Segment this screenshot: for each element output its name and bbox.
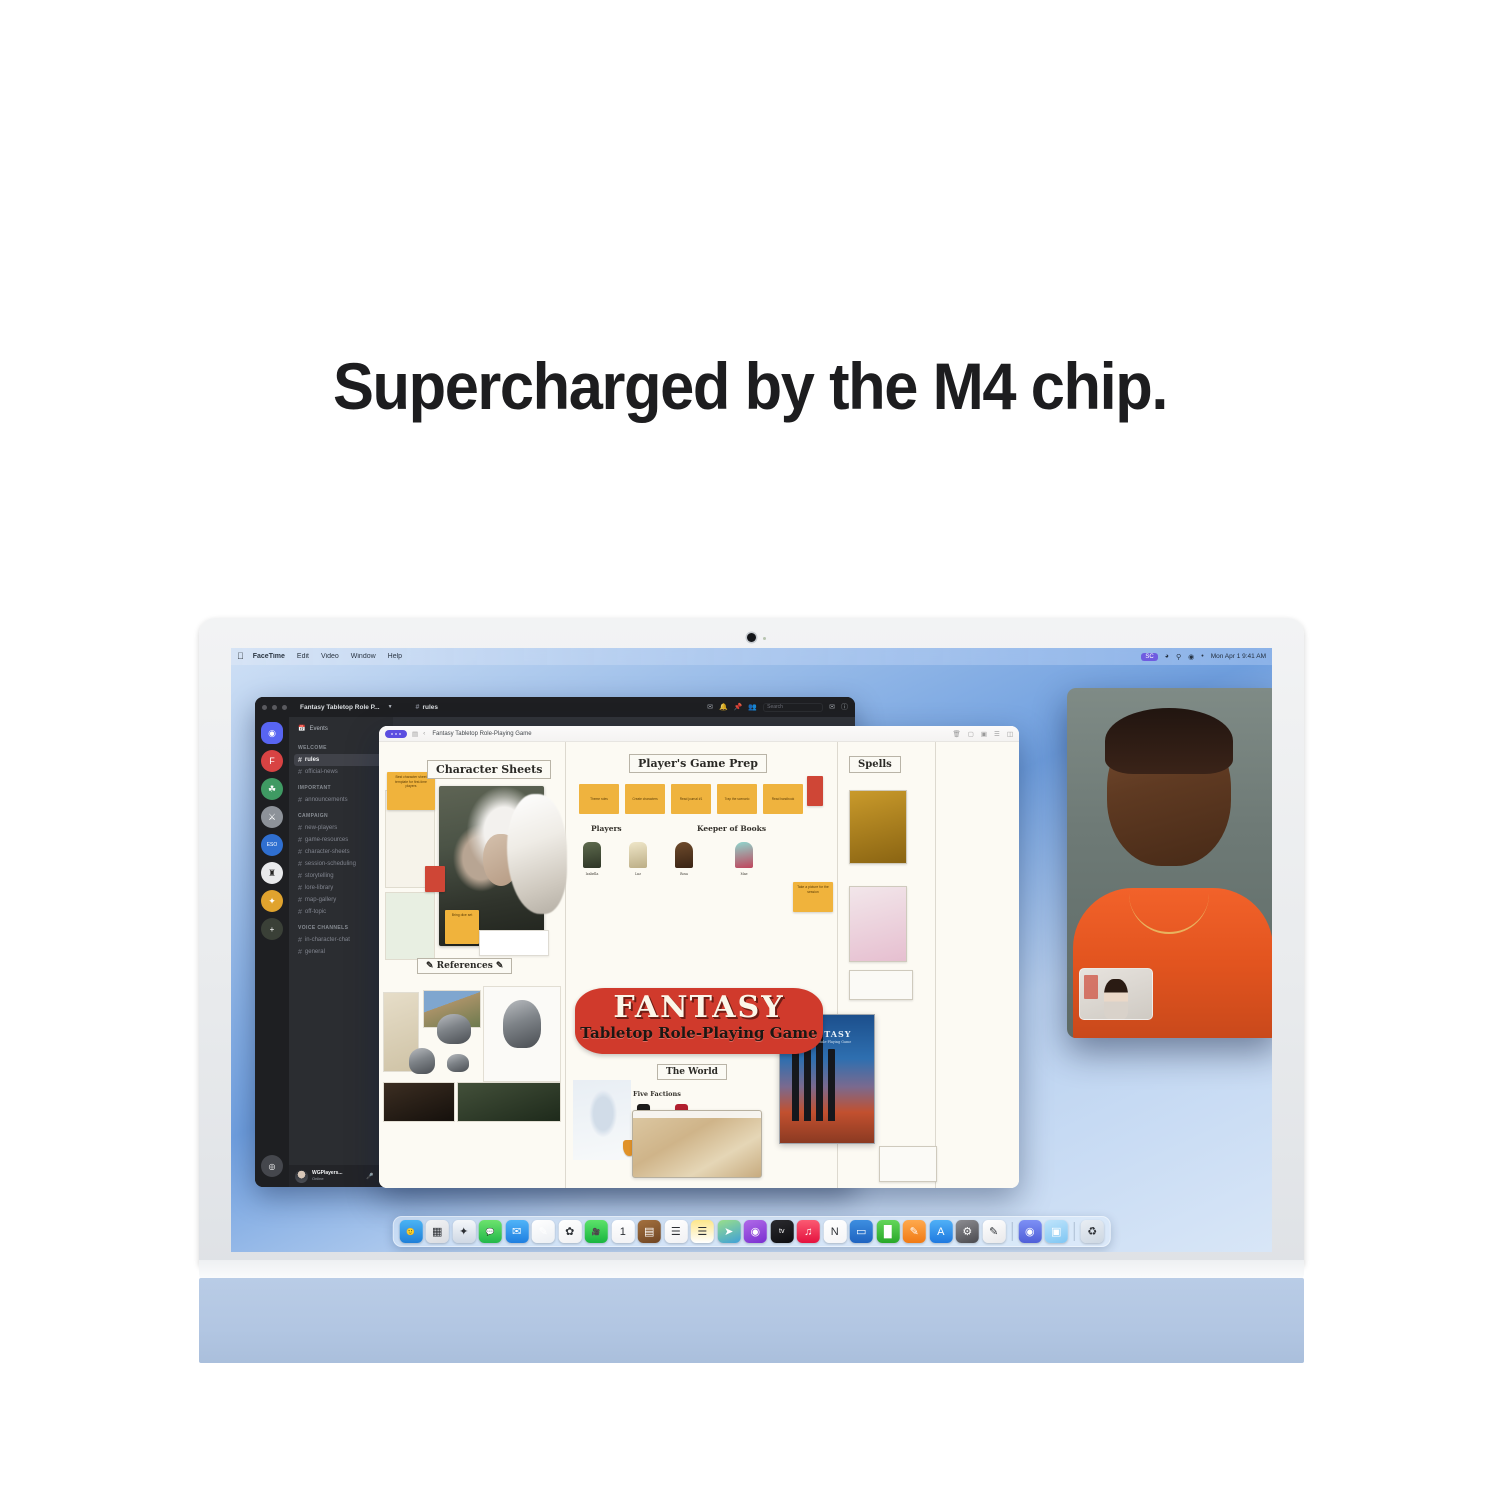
- imac-stand: [199, 1278, 1304, 1363]
- siri-icon[interactable]: •: [1201, 653, 1203, 660]
- pixelmator-icon: ✎: [989, 1225, 998, 1238]
- dock-icon-contacts[interactable]: ▤: [638, 1220, 661, 1243]
- mic-icon[interactable]: 🎤: [366, 1173, 373, 1180]
- discord-toolbar: ✉ 🔔 📌 👥 Search ✉ ⓘ: [707, 702, 848, 712]
- discord-channel-list: WELCOME#rules#official-newsIMPORTANT#ann…: [289, 738, 393, 1165]
- prep-tile[interactable]: Trap the scenario: [717, 784, 757, 814]
- pin-icon[interactable]: 📌: [734, 703, 743, 711]
- discord-icon: ◉: [1025, 1225, 1035, 1238]
- helmet-sketch-icon: [409, 1048, 435, 1074]
- guild-green-server[interactable]: ☘: [261, 778, 283, 800]
- prep-tile[interactable]: Read handbook: [763, 784, 803, 814]
- sidebar-toggle-icon[interactable]: ▤: [412, 730, 418, 738]
- board-section-the-world: The World: [657, 1064, 727, 1080]
- dock-icon-safari[interactable]: ✦: [452, 1220, 475, 1243]
- hash-icon: #: [298, 897, 302, 904]
- channel-item-session-scheduling[interactable]: #session-scheduling: [294, 858, 388, 870]
- player-mini-figure[interactable]: [583, 842, 601, 868]
- channel-item-off-topic[interactable]: #off-topic: [294, 906, 388, 918]
- prep-tile[interactable]: Create characters: [625, 784, 665, 814]
- hash-icon: #: [298, 757, 302, 764]
- helmet-sketch-icon: [437, 1014, 471, 1044]
- apple-logo-icon[interactable]: : [237, 652, 244, 661]
- search-icon[interactable]: ⚲: [1176, 653, 1181, 661]
- freeform-canvas[interactable]: Character Sheets Best character sheet te…: [379, 742, 1019, 1188]
- channel-item-official-news[interactable]: #official-news: [294, 766, 388, 778]
- channel-item-in-character-chat[interactable]: #in-character-chat: [294, 934, 388, 946]
- discord-channel-title: #rules: [416, 704, 438, 711]
- menu-item-app[interactable]: FaceTime: [253, 653, 285, 660]
- spell-card[interactable]: [849, 886, 907, 962]
- hash-icon: #: [298, 797, 302, 804]
- board-section-character-sheets: Character Sheets: [427, 760, 551, 779]
- channel-label: in-character-chat: [305, 937, 350, 943]
- hash-icon: #: [298, 873, 302, 880]
- player-mini-figure[interactable]: [675, 842, 693, 868]
- guild-gold-server[interactable]: ✦: [261, 890, 283, 912]
- discord-events-label: Events: [309, 726, 327, 732]
- prep-keeper-label: Keeper of Books: [697, 824, 766, 833]
- photos-icon: ✿: [565, 1225, 574, 1238]
- hash-icon: #: [298, 885, 302, 892]
- text-icon[interactable]: ☰: [994, 730, 1000, 738]
- player-mini-figure[interactable]: [629, 842, 647, 868]
- discord-channel-name: rules: [422, 704, 438, 711]
- channel-category[interactable]: VOICE CHANNELS: [294, 918, 388, 934]
- facetime-self-view[interactable]: [1079, 968, 1153, 1020]
- prep-tile[interactable]: Read journal #1: [671, 784, 711, 814]
- reminders-icon: ☰: [671, 1225, 681, 1238]
- inbox-icon[interactable]: ✉: [829, 703, 835, 711]
- pip-person: [1104, 979, 1128, 1019]
- sticky-note-icon[interactable]: ▣: [981, 730, 987, 738]
- discord-user-status: Online: [312, 1176, 343, 1181]
- board-divider: [935, 742, 936, 1188]
- sticky-note[interactable]: Take a picture for the session: [793, 882, 833, 912]
- freeform-icon: ✎: [539, 1225, 548, 1238]
- dock-icon-podcasts[interactable]: ◉: [744, 1220, 767, 1243]
- player-name: Luz: [625, 872, 651, 876]
- reference-dark-photo[interactable]: [383, 1082, 455, 1122]
- hash-icon: #: [298, 825, 302, 832]
- dock-icon-launchpad[interactable]: ▦: [426, 1220, 449, 1243]
- hash-icon: #: [298, 909, 302, 916]
- dock-icon-app-store[interactable]: A: [929, 1220, 952, 1243]
- sticky-note[interactable]: Bring dice set: [445, 910, 479, 944]
- freeform-board-title: Fantasy Tabletop Role-Playing Game: [432, 731, 531, 737]
- dock-icon-numbers[interactable]: █: [876, 1220, 899, 1243]
- dock-icon-photos[interactable]: ✿: [558, 1220, 581, 1243]
- finder-icon: 🙂: [406, 1228, 415, 1236]
- bell-icon[interactable]: 🔔: [719, 703, 728, 711]
- guild-blue-server[interactable]: ESO: [261, 834, 283, 856]
- close-icon[interactable]: [262, 705, 267, 710]
- notes-icon: ☰: [697, 1225, 707, 1238]
- freeform-tools: 🗑 ▢ ▣ ☰ ◫: [952, 730, 1013, 738]
- calendar-icon: 1: [620, 1226, 626, 1238]
- discord-user-info: WGPlayers... Online: [312, 1171, 343, 1182]
- trash-icon[interactable]: 🗑: [952, 730, 960, 738]
- channel-label: character-sheets: [305, 849, 350, 855]
- hash-icon: #: [298, 861, 302, 868]
- mail-icon: ✉: [512, 1225, 521, 1238]
- channel-item-new-players[interactable]: #new-players: [294, 822, 388, 834]
- channel-label: rules: [305, 757, 319, 763]
- facetime-icon: 🎥: [592, 1228, 601, 1236]
- dock-icon-news[interactable]: N: [823, 1220, 846, 1243]
- dock-icon-notes[interactable]: ☰: [691, 1220, 714, 1243]
- dock-icon-freeform[interactable]: ✎: [532, 1220, 555, 1243]
- channel-item-game-resources[interactable]: #game-resources: [294, 834, 388, 846]
- prep-tile[interactable]: Theme rules: [579, 784, 619, 814]
- dock-icon-discord[interactable]: ◉: [1018, 1220, 1041, 1243]
- guild-explore-servers[interactable]: ◎: [261, 1155, 283, 1177]
- menu-item-window[interactable]: Window: [351, 653, 376, 660]
- menu-item-video[interactable]: Video: [321, 653, 339, 660]
- dock-icon-screenshot[interactable]: ▣: [1045, 1220, 1068, 1243]
- logo-title: FANTASY: [575, 990, 823, 1025]
- board-section-references: ✎ References ✎: [417, 958, 512, 974]
- guild-fantasy-server[interactable]: F: [261, 750, 283, 772]
- player-name: Izabella: [579, 872, 605, 876]
- channel-label: session-scheduling: [305, 861, 356, 867]
- minimize-icon[interactable]: [272, 705, 277, 710]
- discord-channel-sidebar[interactable]: 📅 Events WELCOME#rules#official-newsIMPO…: [289, 717, 393, 1187]
- window-controls-pill[interactable]: [385, 730, 407, 738]
- hash-icon: #: [298, 949, 302, 956]
- channel-item-rules[interactable]: #rules: [294, 754, 388, 766]
- spell-note[interactable]: [849, 970, 913, 1000]
- page-title: Supercharged by the M4 chip.: [53, 348, 1448, 424]
- control-center-icon[interactable]: ◉: [1188, 653, 1194, 661]
- channel-label: off-topic: [305, 909, 326, 915]
- contacts-icon: ▤: [644, 1225, 654, 1238]
- dock-icon-keynote[interactable]: ▭: [850, 1220, 873, 1243]
- podcasts-icon: ◉: [750, 1225, 760, 1238]
- board-divider: [565, 742, 566, 1188]
- sticky-note-red[interactable]: ⚖: [425, 866, 445, 892]
- media-icon[interactable]: ◫: [1007, 730, 1013, 738]
- channel-item-general[interactable]: #general: [294, 946, 388, 958]
- apple-tv-icon: tv: [779, 1228, 784, 1235]
- sticky-note-red[interactable]: [807, 776, 823, 806]
- channel-label: game-resources: [305, 837, 348, 843]
- dock-icon-pixelmator[interactable]: ✎: [982, 1220, 1005, 1243]
- channel-item-character-sheets[interactable]: #character-sheets: [294, 846, 388, 858]
- screenshot-icon: ▣: [1051, 1225, 1061, 1238]
- discord-server-rail[interactable]: ◉ F ☘ ⚔ ESO ♜ ✦ + ◎: [255, 717, 289, 1187]
- prep-players-label: Players: [591, 824, 622, 833]
- dock-icon-pages[interactable]: ✎: [903, 1220, 926, 1243]
- app-store-icon: A: [937, 1226, 944, 1238]
- hash-icon: #: [298, 849, 302, 856]
- channel-item-announcements[interactable]: #announcements: [294, 794, 388, 806]
- channel-item-map-gallery[interactable]: #map-gallery: [294, 894, 388, 906]
- channel-label: map-gallery: [305, 897, 336, 903]
- world-map[interactable]: [632, 1110, 762, 1178]
- dock-separator: [1074, 1222, 1075, 1241]
- channel-category[interactable]: IMPORTANT: [294, 778, 388, 794]
- dock-icon-facetime[interactable]: 🎥: [585, 1220, 608, 1243]
- guild-white-server[interactable]: ♜: [261, 862, 283, 884]
- shapes-icon[interactable]: ▢: [968, 730, 974, 738]
- dock-icon-maps[interactable]: ➤: [717, 1220, 740, 1243]
- freeform-window[interactable]: ▤ ‹ Fantasy Tabletop Role-Playing Game 🗑…: [379, 726, 1019, 1188]
- keynote-icon: ▭: [856, 1225, 866, 1238]
- trash-icon: ♻: [1087, 1225, 1097, 1238]
- channel-label: official-news: [305, 769, 338, 775]
- dock-icon-mail[interactable]: ✉: [505, 1220, 528, 1243]
- hash-icon: #: [298, 837, 302, 844]
- dock-icon-music[interactable]: ♫: [797, 1220, 820, 1243]
- system-settings-icon: ⚙: [962, 1225, 972, 1238]
- macos-menu-bar[interactable]:  FaceTime Edit Video Window Help SC ◕ ⚲…: [231, 648, 1272, 665]
- menu-item-help[interactable]: Help: [388, 653, 402, 660]
- board-section-spells: Spells: [849, 756, 901, 773]
- spell-card[interactable]: [849, 790, 907, 864]
- dock-icon-system-settings[interactable]: ⚙: [956, 1220, 979, 1243]
- guild-discord-home[interactable]: ◉: [261, 722, 283, 744]
- channel-label: general: [305, 949, 325, 955]
- hash-icon: #: [416, 704, 420, 711]
- messages-icon: 💬: [486, 1228, 495, 1236]
- guild-grey-server[interactable]: ⚔: [261, 806, 283, 828]
- channel-item-storytelling[interactable]: #storytelling: [294, 870, 388, 882]
- discord-user-panel[interactable]: WGPlayers... Online 🎤 🎧: [289, 1165, 393, 1187]
- caller-hair: [1105, 708, 1233, 774]
- guild-dark-server[interactable]: +: [261, 918, 283, 940]
- menu-bar-status-area: SC ◕ ⚲ ◉ • Mon Apr 1 9:41 AM: [1141, 653, 1266, 661]
- freeform-toolbar[interactable]: ▤ ‹ Fantasy Tabletop Role-Playing Game 🗑…: [379, 726, 1019, 742]
- fantasy-logo[interactable]: FANTASY Tabletop Role-Playing Game: [575, 988, 823, 1054]
- player-name: Rosa: [671, 872, 697, 876]
- maps-icon: ➤: [724, 1225, 733, 1238]
- channel-item-lore-library[interactable]: #lore-library: [294, 882, 388, 894]
- hash-icon: #: [298, 769, 302, 776]
- display-chin: [199, 1260, 1304, 1280]
- reference-forest-photo[interactable]: [457, 1082, 561, 1122]
- channel-label: new-players: [305, 825, 337, 831]
- dock-icon-reminders[interactable]: ☰: [664, 1220, 687, 1243]
- dock-separator: [1011, 1222, 1012, 1241]
- board-card[interactable]: [479, 930, 549, 956]
- calendar-icon: 📅: [298, 725, 305, 732]
- map-toolbar: [633, 1111, 761, 1118]
- hash-icon: #: [298, 937, 302, 944]
- keeper-name: Mae: [731, 872, 757, 876]
- discord-server-name[interactable]: Fantasy Tabletop Role P...: [300, 704, 380, 711]
- dock-icon-calendar[interactable]: 1: [611, 1220, 634, 1243]
- discord-search-input[interactable]: Search: [763, 703, 823, 712]
- helmet-sketch-icon: [447, 1054, 469, 1072]
- wifi-icon[interactable]: ◕: [1165, 653, 1169, 660]
- safari-icon: ✦: [459, 1225, 468, 1238]
- help-icon[interactable]: ⓘ: [841, 702, 848, 712]
- factions-label: Five Factions: [633, 1090, 681, 1098]
- channel-label: announcements: [305, 797, 348, 803]
- board-paper[interactable]: [385, 892, 435, 960]
- menu-bar-clock[interactable]: Mon Apr 1 9:41 AM: [1211, 653, 1266, 660]
- spell-note[interactable]: [879, 1146, 937, 1182]
- channel-label: lore-library: [305, 885, 333, 891]
- numbers-icon: █: [884, 1226, 892, 1238]
- pip-background: [1084, 975, 1098, 999]
- helmet-sketch-icon: [503, 1000, 541, 1048]
- thread-icon[interactable]: ✉: [707, 703, 713, 711]
- menu-item-edit[interactable]: Edit: [297, 653, 309, 660]
- channel-label: storytelling: [305, 873, 334, 879]
- keeper-mini-figure[interactable]: [735, 842, 753, 868]
- imac-device:  FaceTime Edit Video Window Help SC ◕ ⚲…: [199, 618, 1304, 1363]
- board-section-game-prep: Player's Game Prep: [629, 754, 767, 773]
- logo-subtitle: Tabletop Role-Playing Game: [575, 1024, 823, 1042]
- discord-events-item[interactable]: 📅 Events: [289, 717, 393, 738]
- chevron-down-icon[interactable]: ▼: [388, 704, 393, 710]
- display-screen:  FaceTime Edit Video Window Help SC ◕ ⚲…: [231, 648, 1272, 1252]
- launchpad-icon: ▦: [432, 1225, 442, 1238]
- screen-sharing-badge[interactable]: SC: [1141, 653, 1157, 661]
- pages-icon: ✎: [910, 1225, 919, 1238]
- camera-indicator-icon: [763, 637, 766, 640]
- dock-icon-finder[interactable]: 🙂: [399, 1220, 422, 1243]
- news-icon: N: [831, 1226, 839, 1238]
- discord-titlebar[interactable]: Fantasy Tabletop Role P... ▼ #rules ✉ 🔔 …: [255, 697, 855, 717]
- dock-icon-trash[interactable]: ♻: [1081, 1220, 1104, 1243]
- avatar[interactable]: [295, 1170, 308, 1183]
- zoom-icon[interactable]: [282, 705, 287, 710]
- macos-dock[interactable]: 🙂▦✦💬✉✎✿🎥1▤☰☰➤◉tv♫N▭█✎A⚙✎◉▣♻: [392, 1216, 1111, 1247]
- members-icon[interactable]: 👥: [748, 703, 757, 711]
- camera-icon: [747, 633, 756, 642]
- channel-category[interactable]: CAMPAIGN: [294, 806, 388, 822]
- music-icon: ♫: [804, 1226, 812, 1238]
- channel-category[interactable]: WELCOME: [294, 738, 388, 754]
- dock-icon-messages[interactable]: 💬: [479, 1220, 502, 1243]
- back-icon[interactable]: ‹: [423, 730, 425, 737]
- dock-icon-apple-tv[interactable]: tv: [770, 1220, 793, 1243]
- facetime-window[interactable]: [1067, 688, 1272, 1038]
